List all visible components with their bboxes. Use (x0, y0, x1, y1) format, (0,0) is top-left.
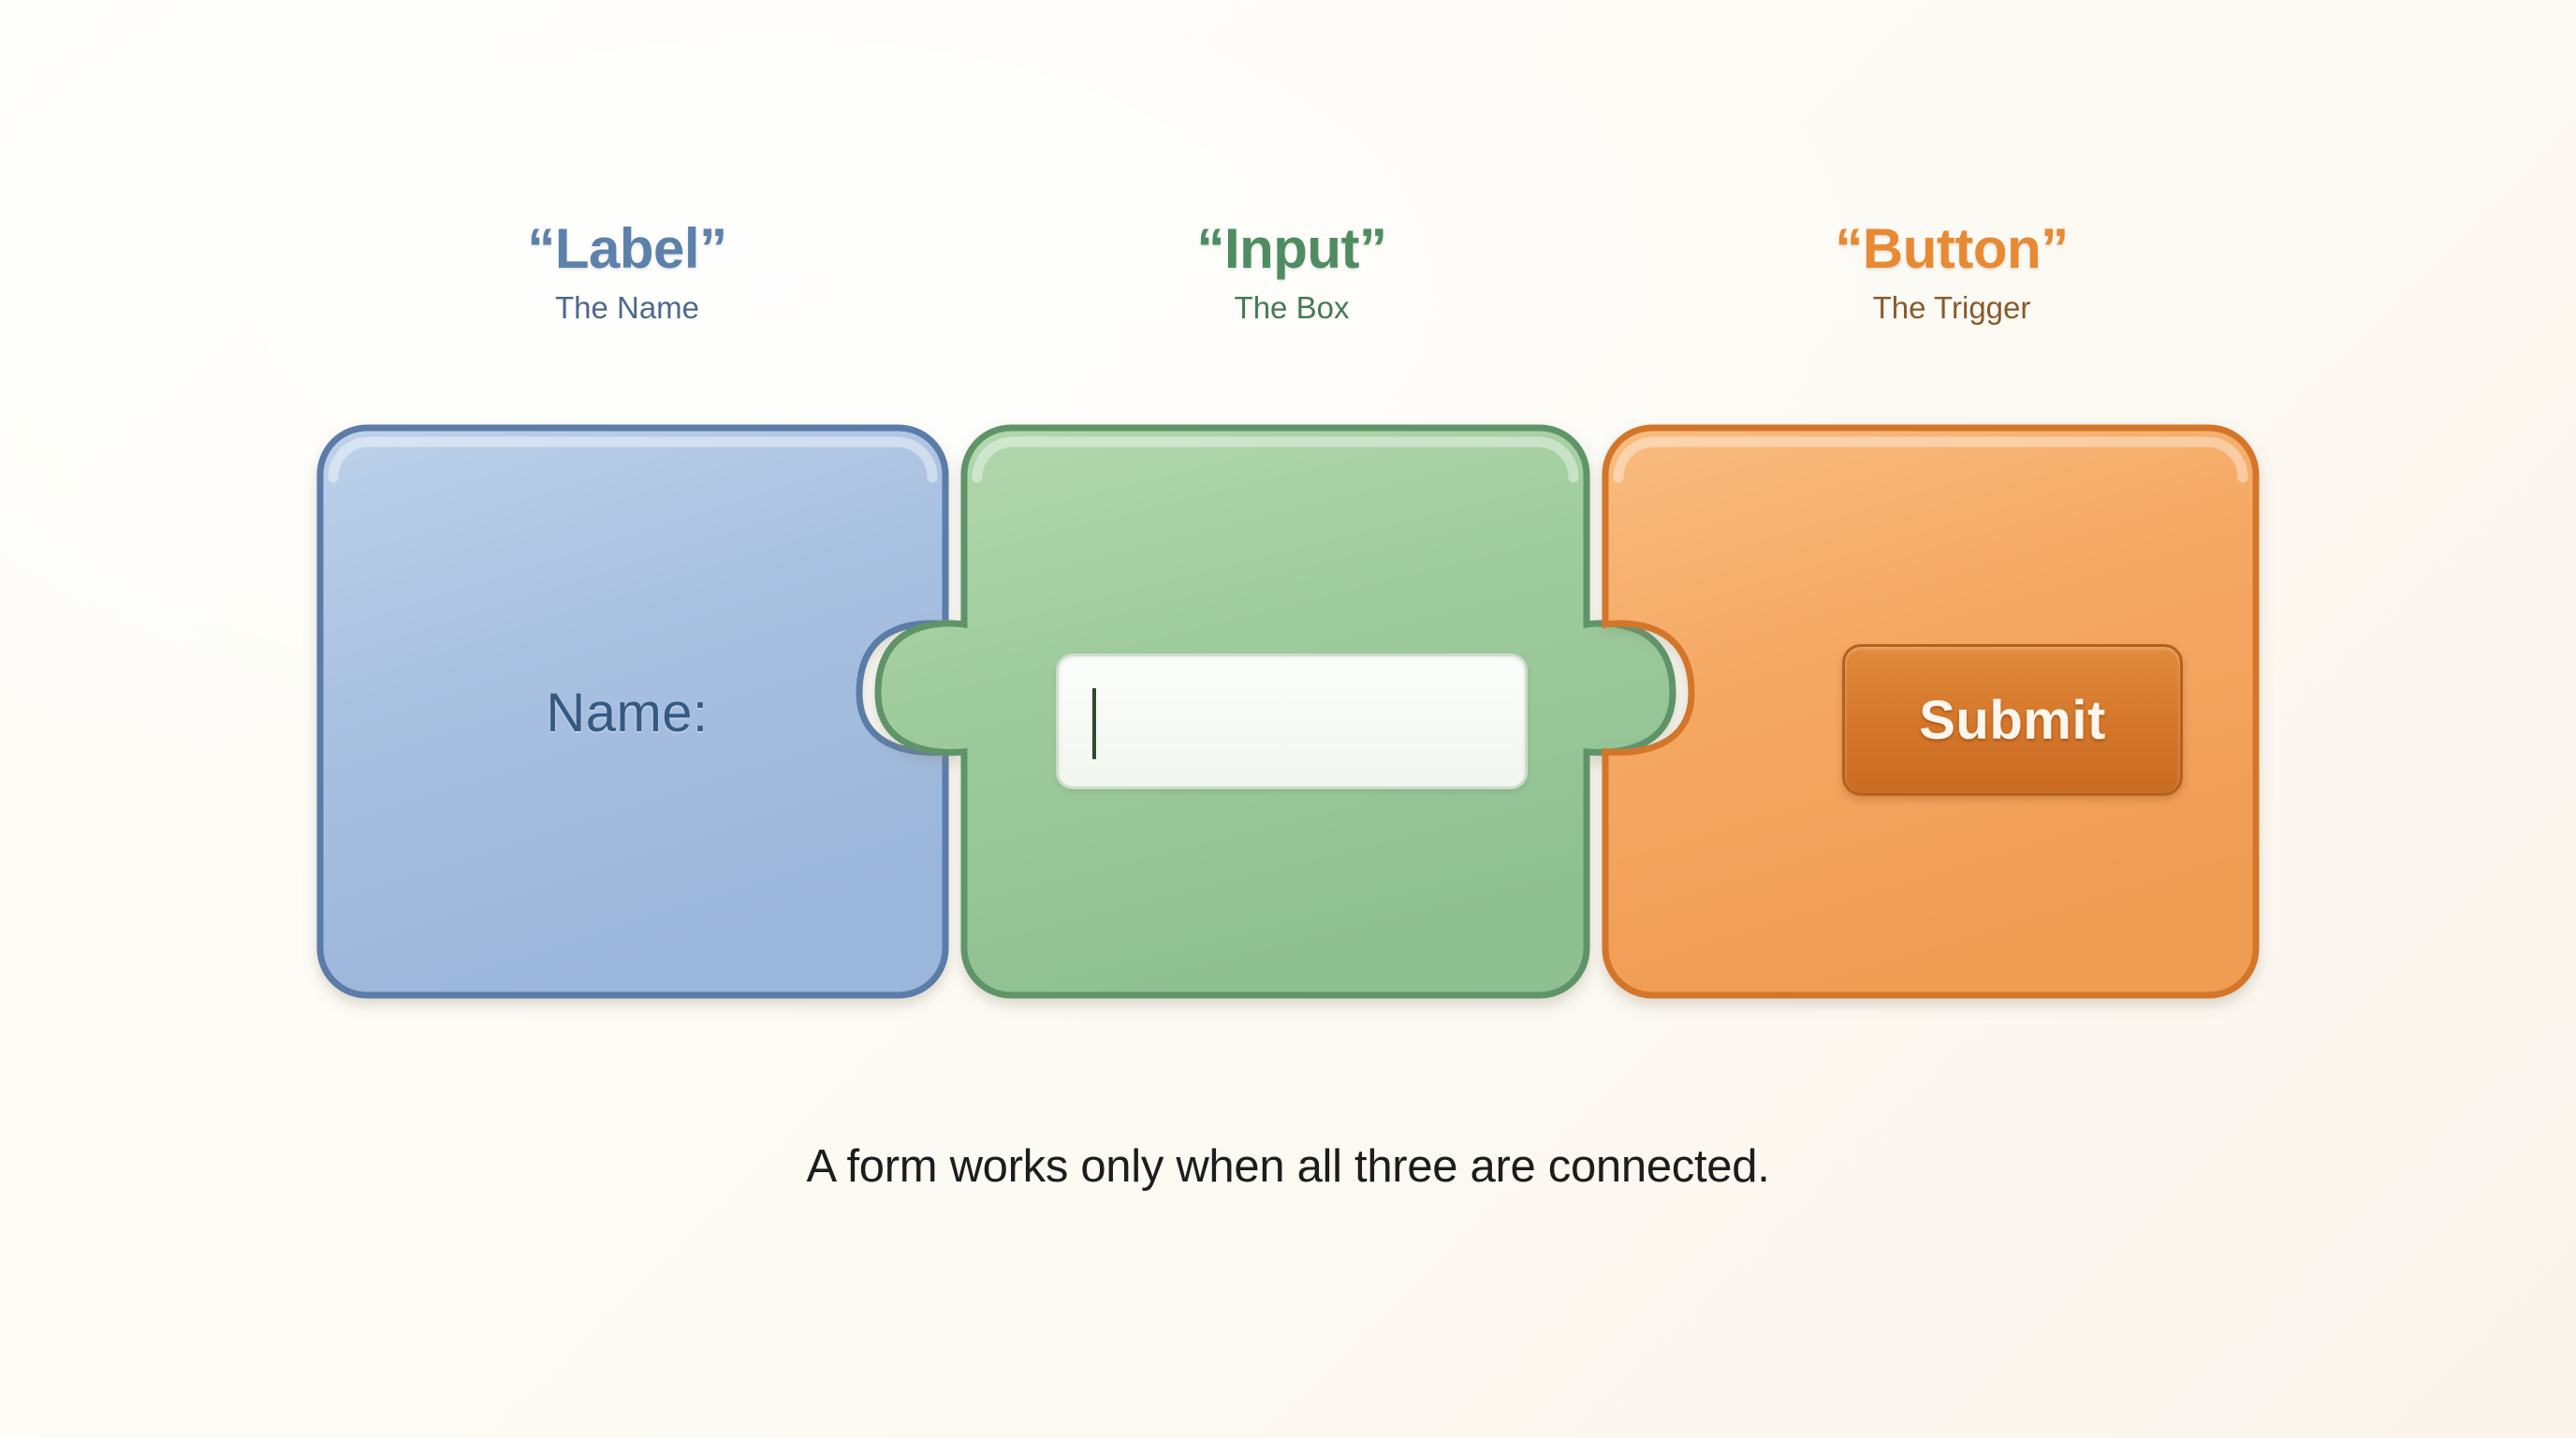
column-title-input: “Input” (964, 221, 1619, 277)
column-title-label: “Label” (300, 221, 955, 277)
column-subtitle-label: The Name (300, 292, 955, 323)
column-heading-button: “Button” The Trigger (1624, 221, 2279, 323)
text-caret (1092, 688, 1096, 759)
form-label-text: Name: (300, 682, 955, 744)
name-input-field[interactable] (1056, 653, 1528, 789)
diagram-canvas: “Label” The Name “Input” The Box “Button… (0, 0, 2576, 1438)
column-title-button: “Button” (1624, 221, 2279, 277)
column-subtitle-input: The Box (964, 292, 1619, 323)
submit-button[interactable]: Submit (1842, 644, 2183, 796)
diagram-caption: A form works only when all three are con… (0, 1140, 2576, 1193)
column-subtitle-button: The Trigger (1624, 292, 2279, 323)
column-heading-label: “Label” The Name (300, 221, 955, 323)
submit-button-label: Submit (1919, 689, 2106, 752)
column-heading-input: “Input” The Box (964, 221, 1619, 323)
